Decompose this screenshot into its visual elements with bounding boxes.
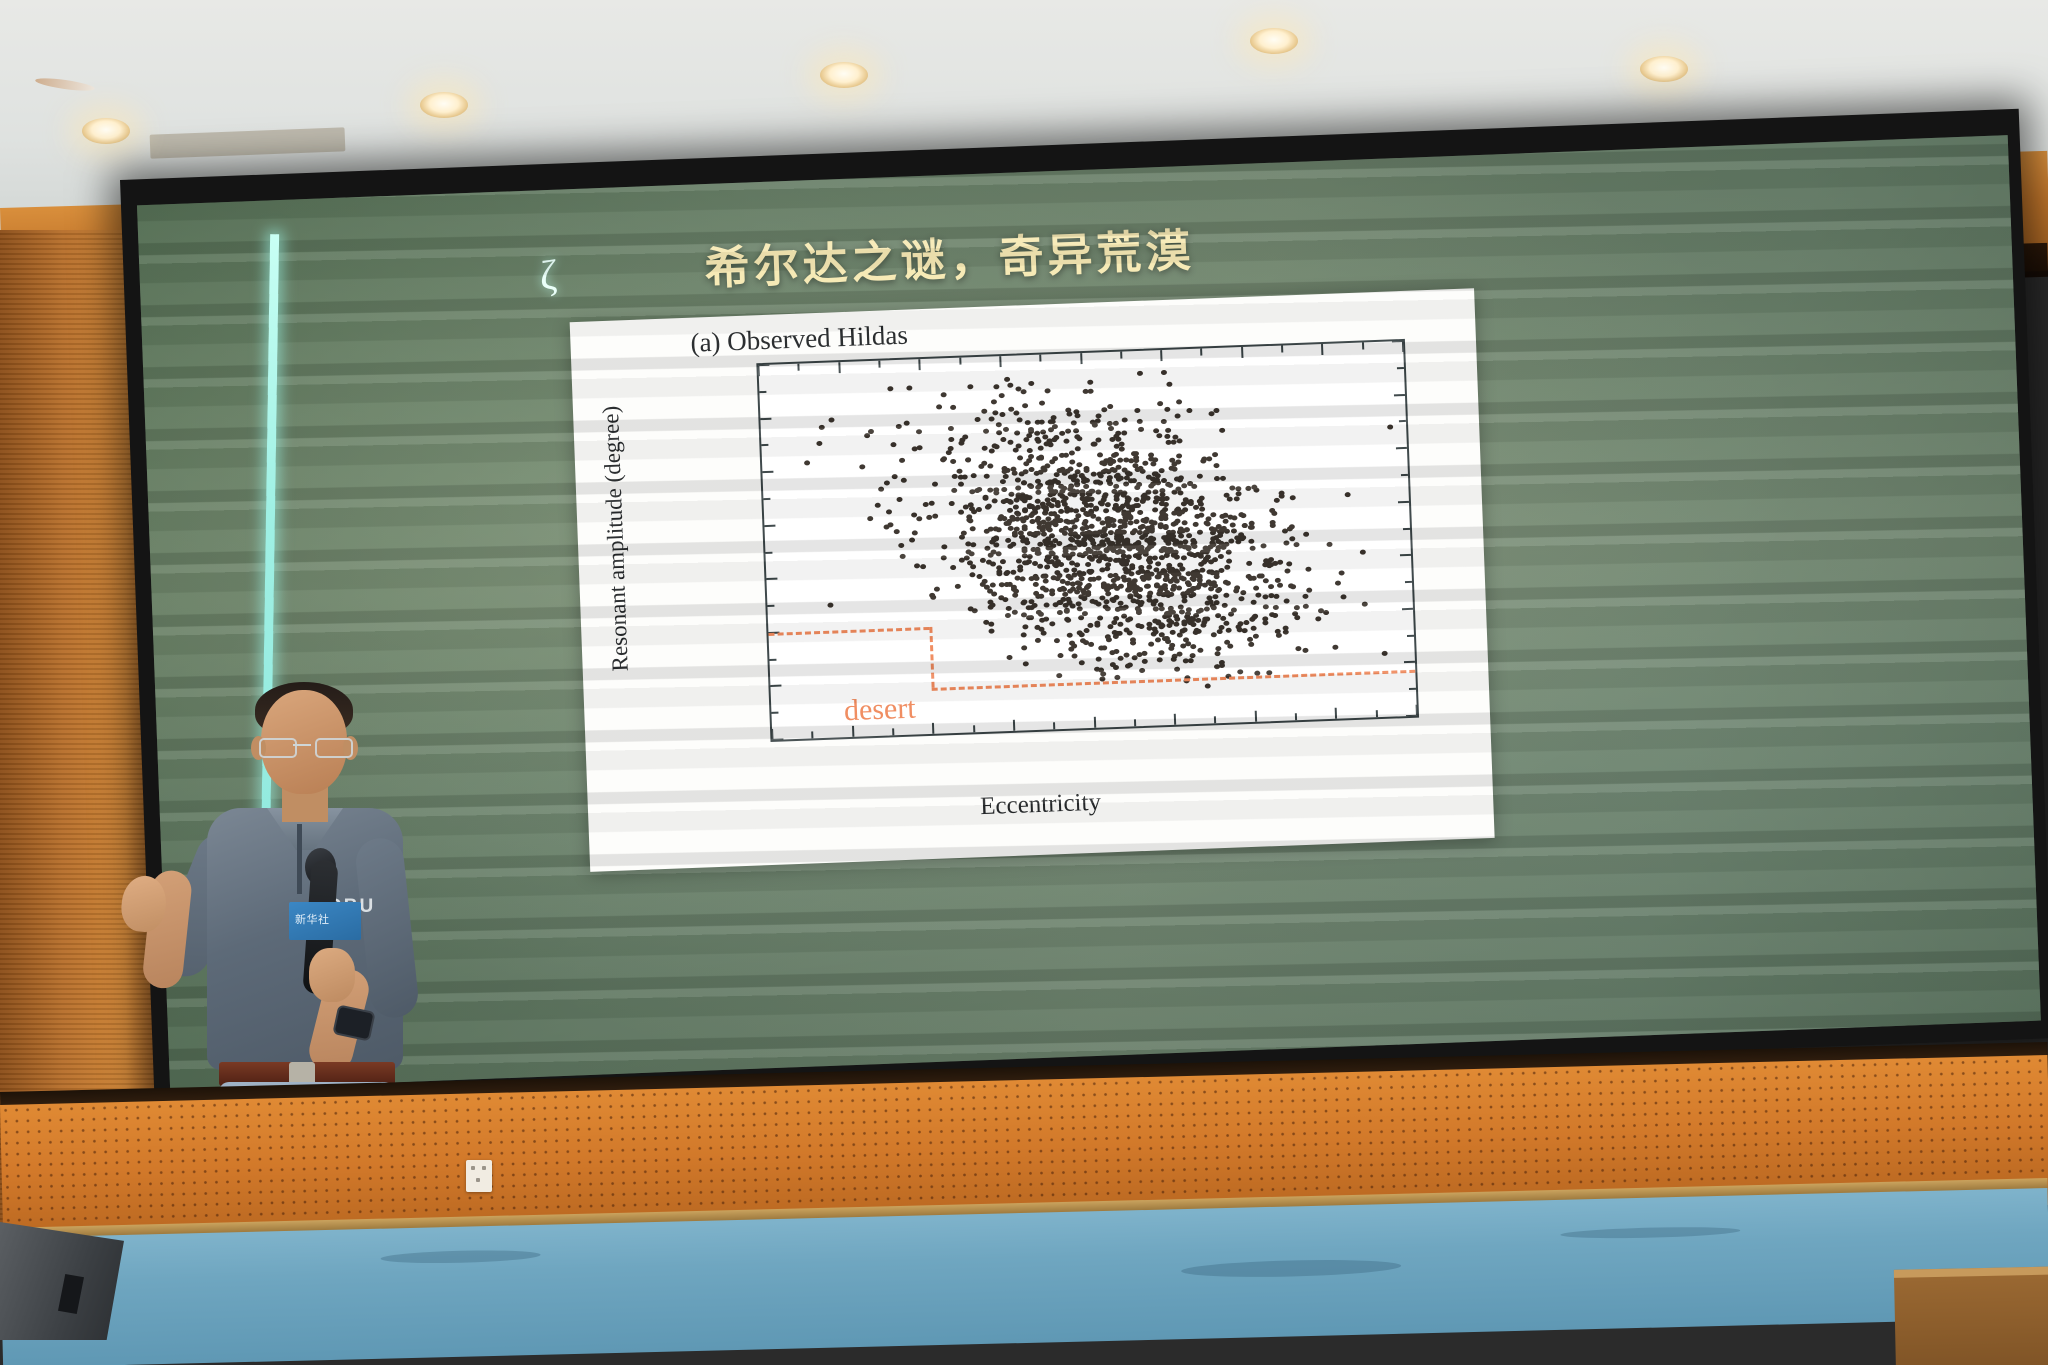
scatter-point [1123, 481, 1129, 486]
scatter-point [892, 474, 898, 479]
x-tick-minor [811, 731, 813, 738]
scatter-point [1024, 420, 1030, 425]
scatter-point [1273, 605, 1279, 610]
scatter-point [1117, 458, 1123, 463]
y-tick-mark [760, 417, 771, 419]
scatter-point [1189, 616, 1195, 621]
scatter-point [920, 564, 926, 569]
scatter-point [1095, 601, 1101, 606]
scatter-point [1178, 533, 1184, 538]
scatter-point [1248, 642, 1254, 647]
scatter-point [1148, 641, 1154, 646]
scatter-point [912, 530, 918, 535]
scatter-point [951, 488, 957, 493]
scatter-point [1229, 523, 1235, 528]
scatter-point [996, 527, 1002, 532]
y-tick-label: 20 [756, 674, 771, 700]
scatter-point [1007, 654, 1013, 659]
scatter-point [1079, 489, 1085, 494]
scatter-point [998, 393, 1004, 398]
glasses-lens [259, 738, 297, 758]
zeta-symbol: ζ [539, 252, 558, 301]
scatter-point [951, 474, 957, 479]
scatter-point [1052, 489, 1058, 494]
scatter-point [1263, 604, 1269, 609]
scatter-point [1222, 519, 1228, 524]
scatter-point [1126, 631, 1132, 636]
scatter-point [1307, 588, 1313, 593]
scatter-point [1129, 507, 1135, 512]
scatter-point [1021, 600, 1027, 605]
x-tick-label: 0.20 [1077, 727, 1113, 742]
scatter-point [941, 544, 947, 549]
scatter-point [1285, 568, 1291, 573]
scatter-point [1169, 643, 1175, 648]
scatter-point [1054, 638, 1060, 643]
scatter-point [1087, 380, 1093, 385]
x-tick-mark [852, 726, 854, 737]
figure-panel-title: (a) Observed Hildas [690, 320, 908, 359]
scatter-point [1164, 549, 1170, 554]
scatter-point [1021, 632, 1027, 637]
outlet-hole [471, 1166, 475, 1170]
scatter-point [1113, 665, 1119, 670]
scatter-point [1008, 382, 1014, 387]
scatter-point [1074, 446, 1080, 451]
y-tick-mark-right [1398, 501, 1409, 503]
scatter-point [1053, 435, 1059, 440]
scatter-point [1277, 583, 1283, 588]
scatter-point [1237, 669, 1243, 674]
scatter-point [1296, 646, 1302, 651]
scatter-point [1236, 486, 1242, 491]
y-tick-label: 40 [756, 620, 769, 646]
scatter-point [1204, 683, 1210, 688]
scatter-point [1088, 530, 1094, 535]
scatter-point [969, 526, 975, 531]
scatter-point [1289, 495, 1295, 500]
scatter-point [1157, 658, 1163, 663]
scatter-point [967, 606, 973, 611]
scatter-point [1107, 404, 1113, 409]
scatter-point [1269, 523, 1275, 528]
scatter-point [985, 505, 991, 510]
scatter-point [1201, 458, 1207, 463]
scatter-point [1227, 644, 1233, 649]
scatter-point [1271, 511, 1277, 516]
scatter-point [1086, 555, 1092, 560]
x-tick-mark [932, 723, 934, 734]
scatter-point [1016, 443, 1022, 448]
scatter-point [1190, 572, 1196, 577]
microphone-station-flag: 新华社 [289, 902, 361, 940]
scatter-point [984, 546, 990, 551]
scatter-point [958, 510, 964, 515]
scatter-point [1065, 428, 1071, 433]
scatter-point [1049, 503, 1055, 508]
scatter-point [1000, 559, 1006, 564]
scatter-point [1040, 630, 1046, 635]
scatter-point [1088, 488, 1094, 493]
scatter-point [1216, 587, 1222, 592]
scatter-point [1001, 466, 1007, 471]
scatter-point [1054, 570, 1060, 575]
scatter-point [1084, 511, 1090, 516]
scatter-point [1144, 583, 1150, 588]
scatter-point [1091, 471, 1097, 476]
scatter-point [1105, 606, 1111, 611]
scatter-point [970, 473, 976, 478]
scatter-point [1111, 629, 1117, 634]
scatter-point [1170, 530, 1176, 535]
scatter-point [1016, 558, 1022, 563]
scatter-point [1224, 529, 1230, 534]
scatter-point [1136, 482, 1142, 487]
scatter-point [1161, 370, 1167, 375]
scatter-point [1058, 561, 1064, 566]
scatter-point [1234, 585, 1240, 590]
scatter-point [899, 458, 905, 463]
y-tick-minor [761, 444, 768, 446]
scatter-point [1035, 484, 1041, 489]
scatter-point [1028, 605, 1034, 610]
scatter-point [1215, 548, 1221, 553]
scatter-point [1176, 478, 1182, 483]
scatter-point [989, 448, 995, 453]
y-tick-mark-right [1400, 554, 1411, 556]
x-tick-mark [1416, 705, 1418, 716]
x-tick-minor-top [959, 358, 961, 365]
scatter-point [1138, 427, 1144, 432]
scatter-point [1153, 607, 1159, 612]
scatter-point [1030, 519, 1036, 524]
scatter-point [1071, 643, 1077, 648]
y-tick-minor-right [1399, 420, 1406, 422]
scatter-point [1211, 605, 1217, 610]
speaker-left-forearm [141, 869, 193, 991]
scatter-point [1113, 616, 1119, 621]
scatter-point [990, 583, 996, 588]
scatter-point [1068, 527, 1074, 532]
scatter-point [1144, 569, 1150, 574]
scatter-point [1246, 561, 1252, 566]
scatter-point [1341, 595, 1347, 600]
scatter-point [1190, 622, 1196, 627]
scatter-point [1008, 544, 1014, 549]
scatter-point [1047, 442, 1053, 447]
x-tick-mark-top [838, 362, 840, 373]
x-tick-mark-top [1402, 341, 1404, 352]
scatter-point [932, 481, 938, 486]
scatter-point [1175, 486, 1181, 491]
scatter-point [1027, 483, 1033, 488]
y-tick-mark-right [1404, 661, 1415, 663]
scatter-point [993, 445, 999, 450]
scatter-point [1102, 492, 1108, 497]
y-tick-minor [759, 391, 766, 393]
scatter-point [994, 384, 1000, 389]
desert-boundary-vertical [930, 627, 935, 689]
scatter-point [1146, 621, 1152, 626]
desert-boundary-horizontal [768, 627, 929, 636]
y-tick-minor-right [1405, 581, 1412, 583]
scatter-point [1120, 504, 1126, 509]
y-tick-mark [764, 524, 775, 526]
scatter-point [1263, 578, 1269, 583]
scatter-point [1056, 673, 1062, 678]
scatter-point [1160, 623, 1166, 628]
scatter-point [1209, 540, 1215, 545]
wall-outlet [466, 1160, 492, 1192]
scatter-point [1184, 527, 1190, 532]
scatter-point-outlier [1387, 425, 1393, 430]
scatter-point [1187, 408, 1193, 413]
scatter-point [1123, 652, 1129, 657]
scatter-point [992, 499, 998, 504]
scatter-point [1161, 535, 1167, 540]
scatter-point [1097, 473, 1103, 478]
scatter-point [1316, 616, 1322, 621]
scatter-point [1000, 437, 1006, 442]
scatter-point [1193, 521, 1199, 526]
scatter-point [940, 393, 946, 398]
scatter-point [1038, 419, 1044, 424]
scatter-point [1178, 526, 1184, 531]
scatter-point [1039, 618, 1045, 623]
x-tick-minor [1053, 722, 1055, 729]
scatter-point [1049, 459, 1055, 464]
desert-annotation-label: desert [843, 691, 916, 728]
scatter-point [1127, 616, 1133, 621]
scatter-point [932, 514, 938, 519]
scatter-point [878, 486, 884, 491]
scatter-point [1003, 427, 1009, 432]
scatter-point [996, 422, 1002, 427]
scatter-point [1170, 656, 1176, 661]
scatter-point [1082, 610, 1088, 615]
scatter-point [950, 405, 956, 410]
scatter-point [1071, 654, 1077, 659]
scatter-point [1044, 564, 1050, 569]
scatter-point [1157, 401, 1163, 406]
scatter-point [976, 507, 982, 512]
scatter-point [1178, 491, 1184, 496]
scatter-point [1034, 430, 1040, 435]
scatter-point [1283, 599, 1289, 604]
scatter-point [874, 503, 880, 508]
scatter-point [988, 629, 994, 634]
scatter-point [1101, 646, 1107, 651]
scatter-point [1109, 467, 1115, 472]
scatter-point [1013, 505, 1019, 510]
x-tick-minor [1214, 716, 1216, 723]
scatter-point [1148, 452, 1154, 457]
scatter-point [1178, 610, 1184, 615]
scatter-point [1007, 507, 1013, 512]
scatter-point [1034, 471, 1040, 476]
scatter-point [1059, 467, 1065, 472]
scatter-point [1193, 630, 1199, 635]
scatter-point [1094, 418, 1100, 423]
scatter-point [1034, 479, 1040, 484]
scatter-point [1278, 490, 1284, 495]
scatter-point [887, 386, 893, 391]
scatter-point [1189, 653, 1195, 658]
scatter-point [1142, 460, 1148, 465]
scatter-point [1033, 530, 1039, 535]
scatter-point-outlier [804, 460, 810, 465]
scatter-point [1021, 645, 1027, 650]
scatter-point [1057, 518, 1063, 523]
scatter-point [1224, 565, 1230, 570]
scatter-point [1148, 535, 1154, 540]
scatter-point [969, 573, 975, 578]
scatter-point [936, 404, 942, 409]
scatter-point [1137, 594, 1143, 599]
x-tick-minor [1295, 713, 1297, 720]
scatter-point [1096, 575, 1102, 580]
scatter-point [906, 386, 912, 391]
y-tick-label: 120 [756, 406, 761, 433]
scatter-point [962, 434, 968, 439]
y-tick-label: 60 [756, 567, 767, 593]
scatter-point [1198, 513, 1204, 518]
scatter-point [1020, 518, 1026, 523]
scatter-point [1217, 554, 1223, 559]
scatter-point [1149, 526, 1155, 531]
scatter-point [1113, 483, 1119, 488]
scatter-point [1176, 586, 1182, 591]
x-tick-minor-top [878, 361, 880, 368]
scatter-point [1213, 594, 1219, 599]
floor-scuff [1560, 1225, 1740, 1239]
scatter-point [1079, 660, 1085, 665]
scatter-point [886, 510, 892, 515]
scatter-point [1195, 585, 1201, 590]
scatter-point [1210, 512, 1216, 517]
scatter-point [1178, 604, 1184, 609]
scatter-point [1075, 513, 1081, 518]
ceiling-downlight [420, 92, 468, 118]
scatter-point [1131, 655, 1137, 660]
scatter-point [1236, 491, 1242, 496]
scatter-point [1210, 530, 1216, 535]
x-axis-label: Eccentricity [588, 774, 1493, 836]
y-tick-minor-right [1403, 527, 1410, 529]
scatter-point [1152, 489, 1158, 494]
x-tick-minor-top [1362, 342, 1364, 349]
scatter-point [897, 497, 903, 502]
scatter-point [1172, 541, 1178, 546]
scatter-point [1226, 558, 1232, 563]
scatter-point [1022, 508, 1028, 513]
glasses-bridge [293, 744, 311, 746]
scatter-point [1017, 455, 1023, 460]
scatter-point [1242, 628, 1248, 633]
glasses-icon [259, 738, 351, 754]
scatter-point [1095, 516, 1101, 521]
scatter-point [1017, 417, 1023, 422]
scatter-point [1114, 675, 1120, 680]
y-tick-mark-right [1396, 447, 1407, 449]
y-tick-minor [765, 551, 772, 553]
scatter-point [1157, 433, 1163, 438]
scatter-point [991, 399, 997, 404]
scatter-point [1009, 492, 1015, 497]
scatter-point [1381, 651, 1387, 656]
scatter-point [1294, 605, 1300, 610]
scatter-point [1082, 519, 1088, 524]
scatter-point [1223, 620, 1229, 625]
scatter-point [1043, 587, 1049, 592]
scatter-point [1160, 419, 1166, 424]
x-tick-mark-top [1321, 344, 1323, 355]
scatter-point [1044, 464, 1050, 469]
scatter-point [1105, 502, 1111, 507]
x-tick-label: 0.35 [1319, 718, 1355, 742]
scatter-point [1105, 566, 1111, 571]
scatter-point [1024, 540, 1030, 545]
x-tick-minor-top [1120, 352, 1122, 359]
scatter-point [1335, 580, 1341, 585]
scatter-point [950, 459, 956, 464]
scatter-point [974, 417, 980, 422]
scatter-point [1109, 597, 1115, 602]
scatter-point [1113, 420, 1119, 425]
scatter-point [1166, 565, 1172, 570]
scatter-point [1197, 498, 1203, 503]
scatter-point [1000, 479, 1006, 484]
scatter-point [1151, 555, 1157, 560]
scatter-point [1219, 428, 1225, 433]
scatter-point [955, 584, 961, 589]
scatter-point [1139, 600, 1145, 605]
y-tick-minor-right [1407, 634, 1414, 636]
scatter-point [1137, 510, 1143, 515]
scatter-point [1003, 474, 1009, 479]
scatter-point [1042, 578, 1048, 583]
scatter-point [1022, 624, 1028, 629]
scatter-point [1230, 528, 1236, 533]
scatter-point [1106, 637, 1112, 642]
scatter-point [904, 420, 910, 425]
x-tick-label: 0.15 [997, 730, 1033, 742]
scatter-point [1095, 489, 1101, 494]
scatter-point [1109, 650, 1115, 655]
scatter-point [1021, 526, 1027, 531]
scatter-point [1099, 595, 1105, 600]
x-tick-label: 0.40 [1400, 715, 1420, 742]
y-tick-mark [766, 578, 777, 580]
scatter-point [1222, 580, 1228, 585]
scatter-point [1087, 569, 1093, 574]
x-tick-mark-top [757, 365, 759, 376]
scatter-point [1013, 410, 1019, 415]
scatter-point [982, 445, 988, 450]
x-tick-label: 0.05 [836, 736, 872, 742]
scatter-point [1148, 543, 1154, 548]
scatter-point [1274, 498, 1280, 503]
scatter-point [1119, 442, 1125, 447]
x-tick-mark [1013, 720, 1015, 731]
scatter-point [1135, 408, 1141, 413]
scatter-point [1074, 481, 1080, 486]
scatter-point [1076, 462, 1082, 467]
scatter-point [1103, 508, 1109, 513]
scatter-point [1111, 453, 1117, 458]
scatter-point [1224, 593, 1230, 598]
ceiling-downlight [1250, 28, 1298, 54]
